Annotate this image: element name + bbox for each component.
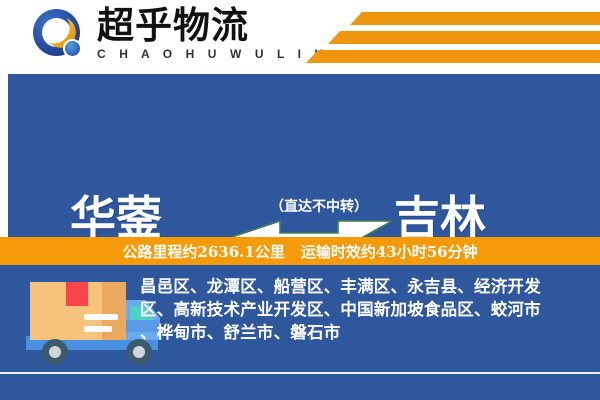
route-note-direct: （直达不中转） — [259, 196, 379, 216]
logo-dot-icon — [63, 39, 82, 58]
header-stripe-2 — [328, 31, 600, 44]
logistics-route-banner: 超乎物流 C H A O H U W U L I U 华蓥 （直达不中转） 【往… — [0, 0, 600, 400]
bottom-divider — [0, 372, 600, 374]
brand-lockup: 超乎物流 C H A O H U W U L I U — [97, 6, 287, 61]
circle-crescent-logo-icon — [33, 9, 89, 65]
header: 超乎物流 C H A O H U W U L I U — [0, 0, 600, 74]
coverage-line-1: 昌邑区、龙潭区、船营区、丰满区、永吉县、经济开发 — [140, 275, 592, 298]
distance-label: 公路里程约2636.1公里 — [122, 241, 284, 262]
brand-name-en: C H A O H U W U L I U — [97, 47, 287, 61]
route-info-bar: 公路里程约2636.1公里 运输时效约43小时56分钟 — [0, 237, 600, 265]
coverage-line-2: 区、高新技术产业开发区、中国新加坡食品区、蛟河市 — [140, 298, 592, 321]
coverage-line-3: 、桦甸市、舒兰市、磐石市 — [140, 321, 592, 344]
brand-name-cn: 超乎物流 — [97, 6, 287, 46]
route-band: 华蓥 （直达不中转） 【往返运输】 吉林 — [8, 74, 600, 237]
header-stripe-3 — [306, 50, 600, 63]
header-stripe-1 — [350, 12, 600, 25]
duration-label: 运输时效约43小时56分钟 — [301, 241, 478, 262]
coverage-area: 昌邑区、龙潭区、船营区、丰满区、永吉县、经济开发 区、高新技术产业开发区、中国新… — [0, 265, 600, 400]
coverage-district-list: 昌邑区、龙潭区、船营区、丰满区、永吉县、经济开发 区、高新技术产业开发区、中国新… — [140, 275, 592, 344]
